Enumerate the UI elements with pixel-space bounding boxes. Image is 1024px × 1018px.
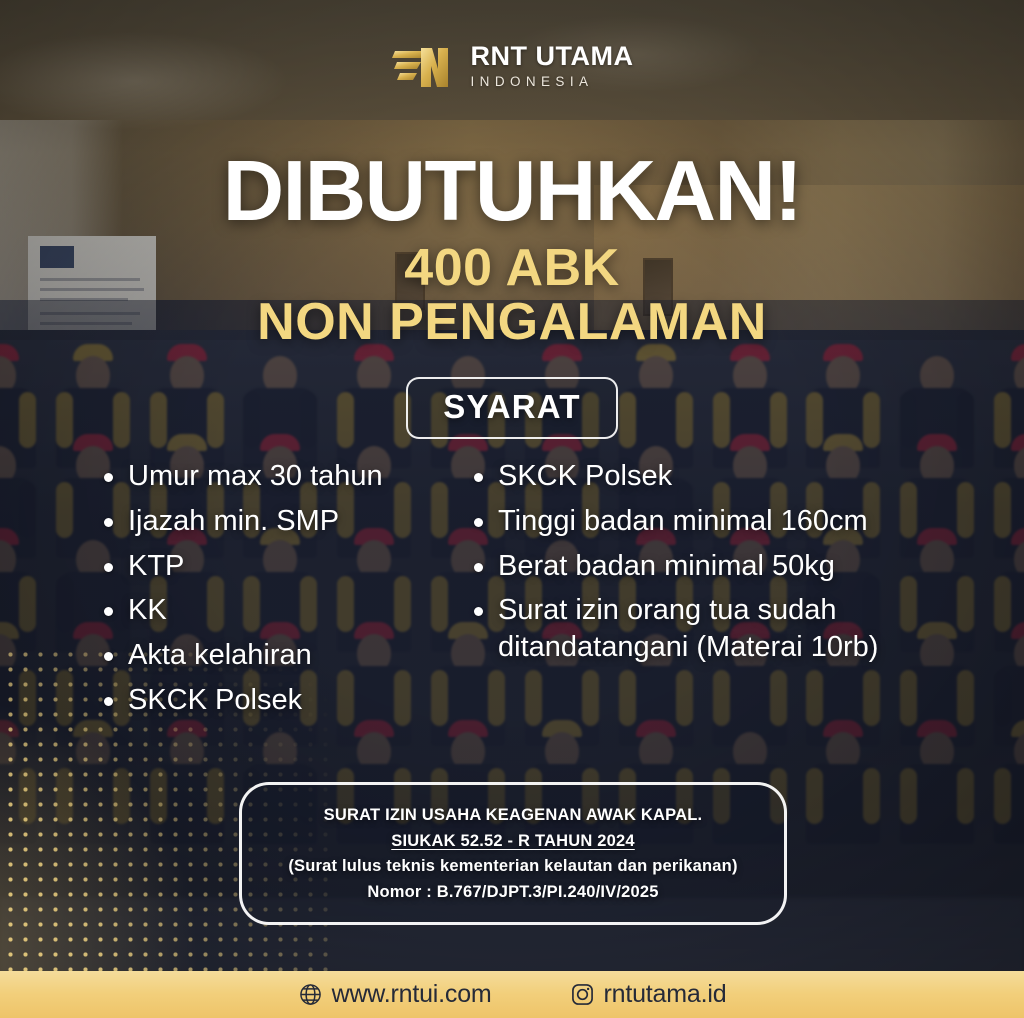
- headline-subline-1: 400 ABK: [0, 241, 1024, 295]
- list-item: KTP: [96, 548, 444, 585]
- requirements-section: Umur max 30 tahun Ijazah min. SMP KTP KK…: [96, 458, 974, 727]
- list-item: Umur max 30 tahun: [96, 458, 444, 495]
- list-item: SKCK Polsek: [466, 458, 974, 495]
- instagram-icon: [570, 982, 595, 1007]
- recruitment-poster: RNT UTAMA INDONESIA DIBUTUHKAN! 400 ABK …: [0, 0, 1024, 1018]
- globe-icon: [298, 982, 323, 1007]
- website-link[interactable]: www.rntui.com: [298, 980, 492, 1009]
- instagram-link[interactable]: rntutama.id: [570, 980, 727, 1009]
- headline-block: DIBUTUHKAN! 400 ABK NON PENGALAMAN: [0, 152, 1024, 349]
- list-item: KK: [96, 592, 444, 629]
- list-item: Berat badan minimal 50kg: [466, 548, 974, 585]
- requirements-column-left: Umur max 30 tahun Ijazah min. SMP KTP KK…: [96, 458, 444, 727]
- brand-name: RNT UTAMA: [471, 43, 634, 70]
- list-item: Akta kelahiran: [96, 637, 444, 674]
- headline-subline-2: NON PENGALAMAN: [0, 295, 1024, 349]
- instagram-label: rntutama.id: [604, 980, 727, 1009]
- headline-title: DIBUTUHKAN!: [0, 152, 1024, 233]
- list-item: Tinggi badan minimal 160cm: [466, 503, 974, 540]
- footer-bar: www.rntui.com rntutama.id: [0, 971, 1024, 1018]
- rnt-winged-n-logo-icon: [391, 38, 457, 94]
- list-item: SKCK Polsek: [96, 682, 444, 719]
- license-line-1: SURAT IZIN USAHA KEAGENAN AWAK KAPAL.: [262, 803, 764, 829]
- license-line-3: (Surat lulus teknis kementerian kelautan…: [262, 854, 764, 880]
- syarat-badge-row: SYARAT: [0, 377, 1024, 439]
- syarat-badge: SYARAT: [406, 377, 618, 439]
- requirements-list-left: Umur max 30 tahun Ijazah min. SMP KTP KK…: [96, 458, 444, 719]
- website-label: www.rntui.com: [332, 980, 492, 1009]
- license-line-4: Nomor : B.767/DJPT.3/PI.240/IV/2025: [262, 880, 764, 906]
- list-item: Ijazah min. SMP: [96, 503, 444, 540]
- requirements-column-right: SKCK Polsek Tinggi badan minimal 160cm B…: [466, 458, 974, 727]
- license-line-2: SIUKAK 52.52 - R TAHUN 2024: [262, 829, 764, 855]
- license-box: SURAT IZIN USAHA KEAGENAN AWAK KAPAL. SI…: [239, 782, 787, 925]
- brand-subtitle: INDONESIA: [471, 75, 634, 89]
- brand-header: RNT UTAMA INDONESIA: [0, 38, 1024, 94]
- list-item: Surat izin orang tua sudah ditandatangan…: [466, 592, 974, 666]
- requirements-list-right: SKCK Polsek Tinggi badan minimal 160cm B…: [466, 458, 974, 666]
